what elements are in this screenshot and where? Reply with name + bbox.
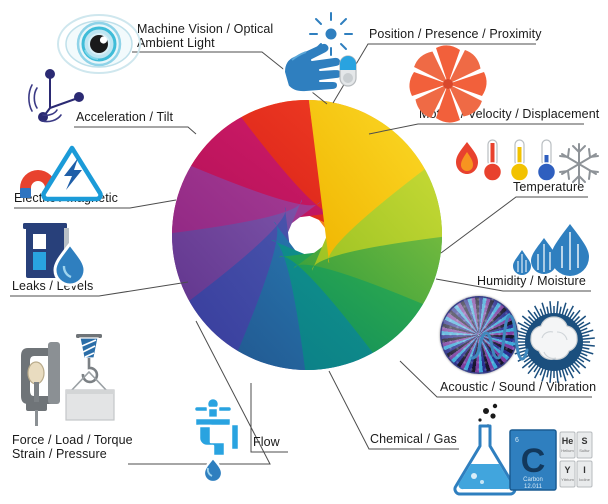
thermometer-yellow <box>511 140 529 181</box>
svg-text:Helium: Helium <box>561 448 574 453</box>
flask-elements-icon: 6 C Carbon 12.011 He Helium S Sulfur Y Y… <box>452 402 594 502</box>
c-clamp <box>21 342 60 426</box>
burst-spike <box>581 338 595 339</box>
svg-text:12.011: 12.011 <box>524 484 543 490</box>
spark <box>310 13 352 55</box>
burst-spike <box>535 306 542 318</box>
burst-spike <box>581 345 595 346</box>
thermometer-blue <box>538 140 556 181</box>
label-force-load: Force / Load / Torque Strain / Pressure <box>12 433 133 461</box>
magnet-hazard-icon <box>12 140 104 200</box>
svg-text:Iodine: Iodine <box>579 477 591 482</box>
thermometer-red <box>484 140 502 181</box>
burst-spike <box>578 323 590 330</box>
tank-droplet-icon <box>14 218 90 286</box>
svg-text:Sulfur: Sulfur <box>579 448 590 453</box>
thermometers-icon <box>455 138 595 190</box>
switch <box>340 56 356 86</box>
label-machine-vision: Machine Vision / Optical Ambient Light <box>137 22 273 50</box>
hazard-triangle <box>43 148 100 199</box>
touch-hand-icon <box>282 12 378 94</box>
crane-hook <box>66 334 114 420</box>
svg-text:6: 6 <box>515 437 519 444</box>
svg-text:He: He <box>562 436 574 446</box>
water-droplets-icon <box>508 222 590 278</box>
svg-text:Y: Y <box>564 465 570 475</box>
svg-text:S: S <box>581 436 587 446</box>
clamp-crane-icon <box>14 328 122 428</box>
burst-spike <box>550 301 551 315</box>
snowflake <box>560 144 598 184</box>
label-acceleration: Acceleration / Tilt <box>76 110 173 124</box>
burst-spike <box>513 345 527 346</box>
burst-spike <box>550 369 551 383</box>
element-tile-carbon: 6 C Carbon 12.011 <box>510 430 556 490</box>
label-chemical-gas: Chemical / Gas <box>370 432 457 446</box>
sound-burst-icon <box>472 302 598 386</box>
burst-spike <box>567 366 574 378</box>
burst-spike <box>518 323 530 330</box>
faucet-icon <box>173 392 253 478</box>
axes-vibration-icon <box>24 64 86 122</box>
svg-text:Carbon: Carbon <box>523 477 543 483</box>
element-tiles-small: He Helium S Sulfur Y Yttrium I Iodine <box>560 432 592 487</box>
pinwheel-fan-icon <box>406 44 490 124</box>
burst-spike <box>567 306 574 318</box>
label-flow: Flow <box>253 435 280 449</box>
bubbles <box>478 404 497 428</box>
svg-text:C: C <box>521 442 546 480</box>
svg-text:I: I <box>583 465 586 475</box>
burst-spike <box>557 301 558 315</box>
label-position: Position / Presence / Proximity <box>369 27 542 41</box>
svg-text:Yttrium: Yttrium <box>561 477 574 482</box>
burst-spike <box>557 369 558 383</box>
hand <box>284 43 342 92</box>
burst-spike <box>578 355 590 362</box>
burst-spike <box>535 366 542 378</box>
sensor-wheel-diagram: Machine Vision / Optical Ambient Light A… <box>0 0 608 504</box>
